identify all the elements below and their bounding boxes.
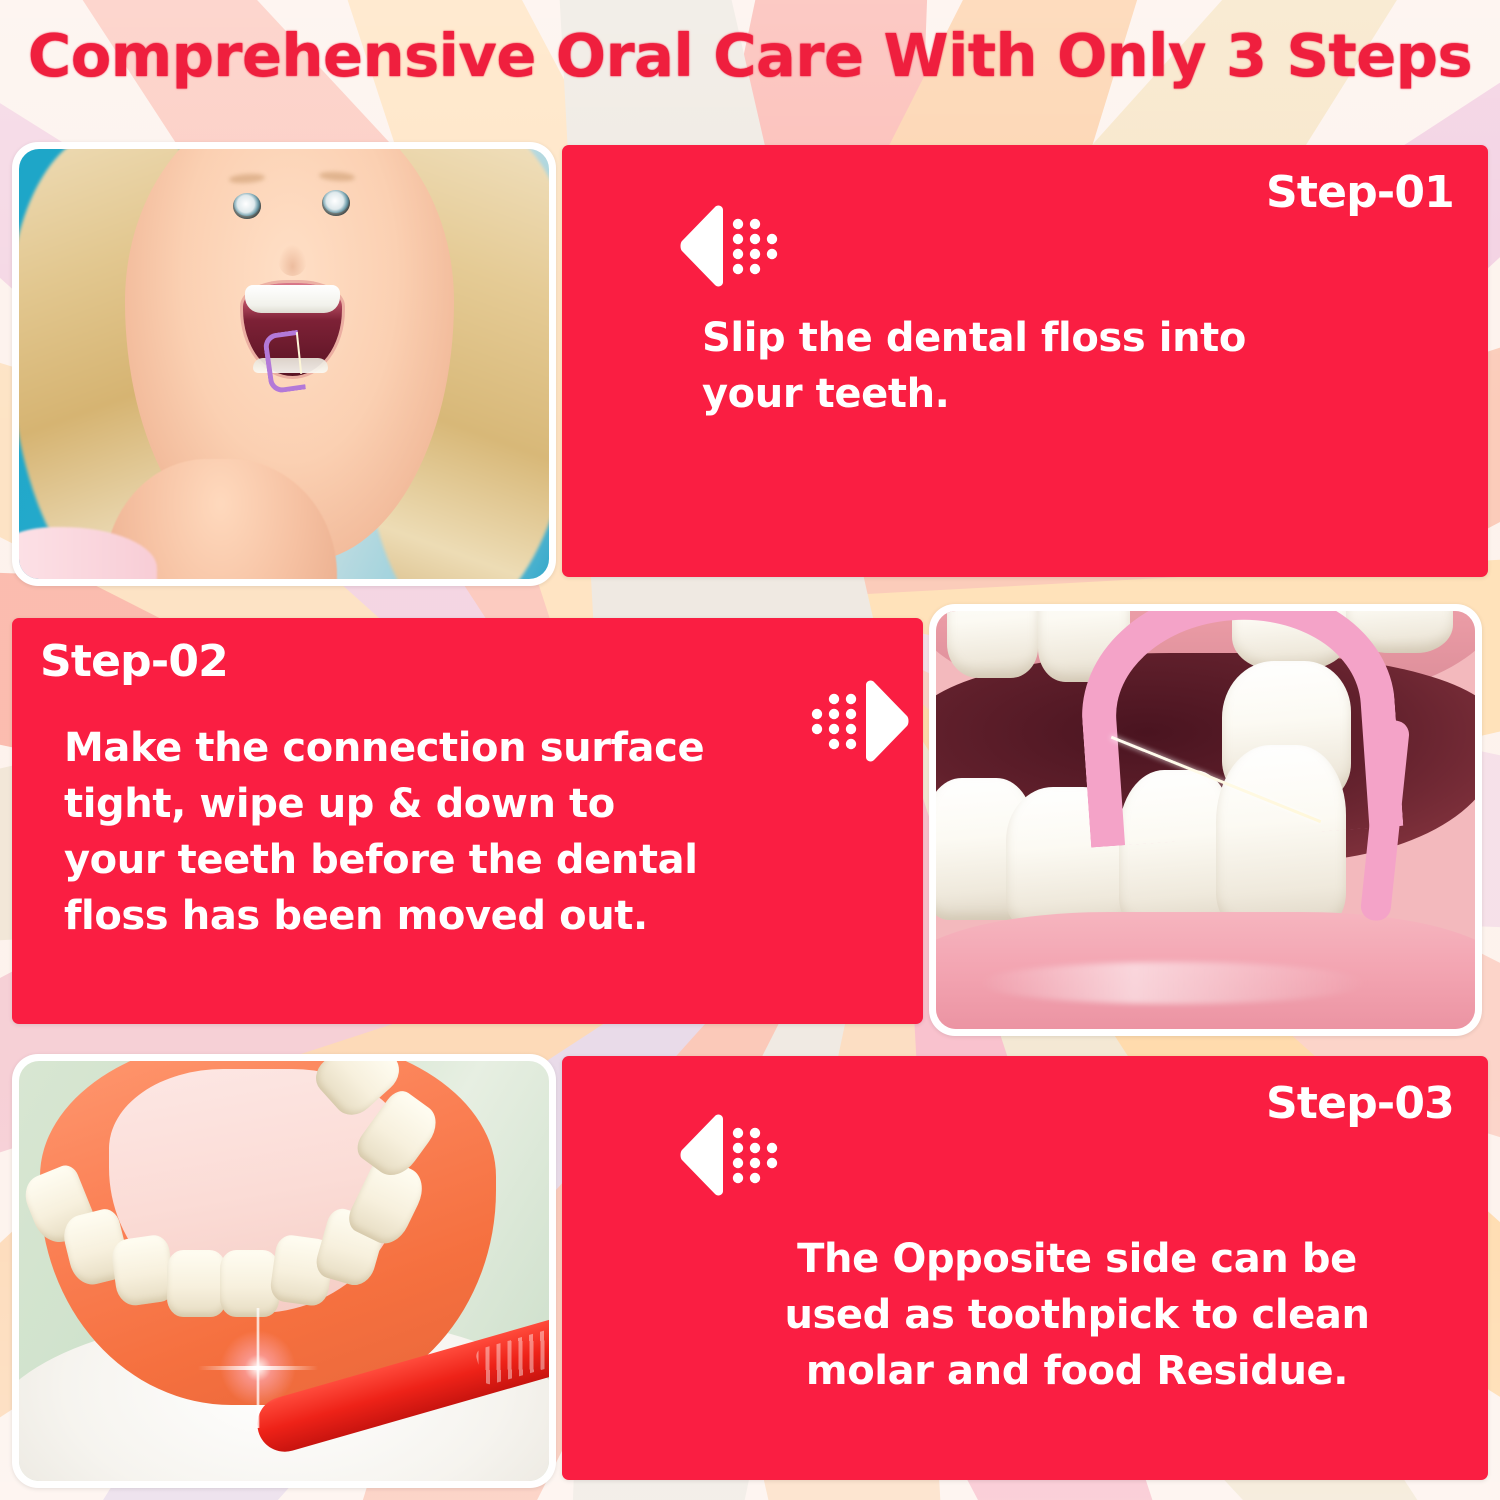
poster-title-bar: Comprehensive Oral Care With Only 3 Step…	[0, 0, 1500, 110]
step-2-panel: Step-02 Make the connection surface tigh…	[12, 618, 923, 1024]
step-3-panel: Step-03 The Opposite side can be used as…	[562, 1056, 1488, 1480]
eye-left	[233, 193, 261, 219]
upper-teeth	[245, 285, 340, 313]
eyebrow-right	[319, 170, 356, 181]
step-3-photo-card	[12, 1054, 556, 1488]
step-1-panel: Step-01 Slip the dental floss into your …	[562, 145, 1488, 577]
girl-flossing-image	[19, 149, 549, 579]
step-row-2: Step-02 Make the connection surface tigh…	[12, 618, 1488, 1028]
step-2-body: Make the connection surface tight, wipe …	[64, 720, 854, 944]
arrow-left-dots-icon	[677, 1114, 797, 1196]
steps-container: Step-01 Slip the dental floss into your …	[0, 0, 1500, 1500]
lip-highlight	[979, 962, 1367, 1004]
step-2-photo-card	[929, 604, 1482, 1036]
dental-model-image	[19, 1061, 549, 1481]
arrow-left-dots-icon	[677, 205, 797, 287]
tooth-upper-1	[947, 611, 1039, 678]
step-3-body: The Opposite side can be used as toothpi…	[712, 1231, 1442, 1399]
step-1-photo	[19, 149, 549, 579]
model-tooth-4	[167, 1250, 225, 1317]
nose	[278, 244, 308, 277]
step-row-3: Step-03 The Opposite side can be used as…	[12, 1054, 1488, 1488]
pink-floss-pick-arc	[1073, 611, 1402, 847]
step-1-photo-card	[12, 142, 556, 586]
page-title: Comprehensive Oral Care With Only 3 Step…	[28, 21, 1472, 90]
step-2-label: Step-02	[40, 636, 228, 687]
step-3-label: Step-03	[1266, 1078, 1454, 1129]
step-row-1: Step-01 Slip the dental floss into your …	[12, 142, 1488, 586]
step-3-photo	[19, 1061, 549, 1481]
step-1-label: Step-01	[1266, 167, 1454, 218]
step-1-body: Slip the dental floss into your teeth.	[702, 310, 1442, 422]
eye-right	[322, 190, 350, 216]
infographic-poster: Comprehensive Oral Care With Only 3 Step…	[0, 0, 1500, 1500]
eyebrow-left	[228, 173, 265, 184]
step-2-photo	[936, 611, 1475, 1029]
teeth-closeup-image	[936, 611, 1475, 1029]
sparkle-highlight-icon	[215, 1325, 301, 1411]
